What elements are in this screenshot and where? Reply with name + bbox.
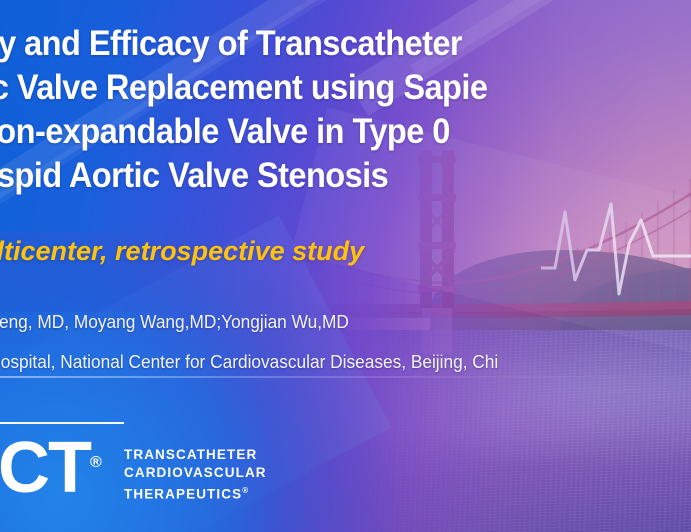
title-line-2: rtic Valve Replacement using Sapie xyxy=(0,66,667,110)
title-line-3: lloon-expandable Valve in Type 0 xyxy=(0,110,667,154)
title-line-1: fety and Efficacy of Transcatheter xyxy=(0,22,667,66)
tct-wordmark: TCT® xyxy=(0,426,100,505)
tct-registered-mark: ® xyxy=(90,454,100,471)
tct-full-name: TRANSCATHETER CARDIOVASCULAR THERAPEUTIC… xyxy=(124,446,267,504)
logo-divider-rule xyxy=(0,422,124,424)
page-title: fety and Efficacy of Transcatheter rtic … xyxy=(0,22,691,198)
slide-content: fety and Efficacy of Transcatheter rtic … xyxy=(0,0,691,532)
tct-word-line-2: CARDIOVASCULAR xyxy=(124,464,267,482)
tct-logo: RF* TCT® TRANSCATHETER CARDIOVASCULAR TH… xyxy=(0,386,288,506)
tct-word-line-3-wrap: THERAPEUTICS® xyxy=(124,482,267,504)
divider xyxy=(0,376,691,378)
tct-word-line-3: THERAPEUTICS xyxy=(124,487,242,502)
tct-name-registered-mark: ® xyxy=(242,486,248,495)
tct-text: TCT xyxy=(0,428,90,508)
subtitle: multicenter, retrospective study xyxy=(0,234,691,268)
presentation-title-slide: fety and Efficacy of Transcatheter rtic … xyxy=(0,0,691,532)
tct-word-line-1: TRANSCATHETER xyxy=(124,446,267,464)
affiliation-line: ai Hospital, National Center for Cardiov… xyxy=(0,350,691,374)
authors-line: g Feng, MD, Moyang Wang,MD;Yongjian Wu,M… xyxy=(0,310,691,334)
title-line-4: cuspid Aortic Valve Stenosis xyxy=(0,154,667,198)
